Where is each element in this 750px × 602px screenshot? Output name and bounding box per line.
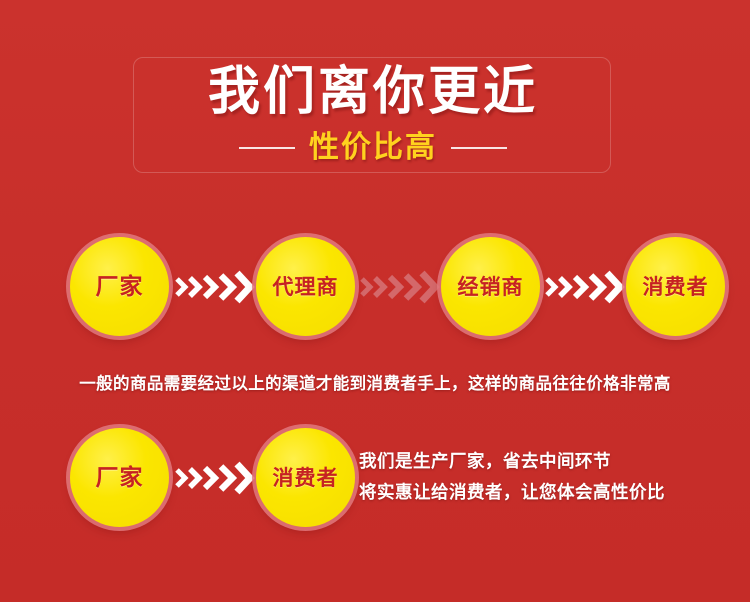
middle-note-text: 一般的商品需要经过以上的渠道才能到消费者手上，这样的商品往往价格非常高 bbox=[0, 372, 750, 396]
flow-node-label: 经销商 bbox=[458, 273, 524, 301]
flow-node-label: 代理商 bbox=[273, 273, 339, 301]
flow-node-consumer-direct: 消费者 bbox=[256, 428, 355, 527]
header-frame: 我们离你更近 性价比高 bbox=[133, 57, 611, 173]
right-note-line-1: 我们是生产厂家，省去中间环节 bbox=[359, 447, 665, 478]
flow-node-label: 厂家 bbox=[96, 464, 144, 492]
rule-left-divider bbox=[239, 147, 295, 149]
chevron-arrow-icon-faded bbox=[355, 267, 441, 307]
flow-node-factory-direct: 厂家 bbox=[70, 428, 169, 527]
flow-node-label: 消费者 bbox=[273, 464, 339, 492]
right-note: 我们是生产厂家，省去中间环节 将实惠让给消费者，让您体会高性价比 bbox=[359, 447, 665, 509]
promo-poster: 我们离你更近 性价比高 厂家 代理商 bbox=[0, 0, 750, 602]
flow-node-dealer: 经销商 bbox=[441, 237, 540, 336]
right-note-line-2: 将实惠让给消费者，让您体会高性价比 bbox=[359, 478, 665, 509]
flow-node-label: 消费者 bbox=[643, 273, 709, 301]
chevron-arrow-icon bbox=[169, 267, 256, 307]
flow-node-consumer: 消费者 bbox=[626, 237, 725, 336]
flow-node-factory: 厂家 bbox=[70, 237, 169, 336]
subtitle-row: 性价比高 bbox=[134, 126, 612, 170]
flow-chain-long: 厂家 代理商 经销商 bbox=[70, 237, 725, 336]
flow-node-label: 厂家 bbox=[96, 273, 144, 301]
page-title: 我们离你更近 bbox=[134, 60, 612, 124]
header-subtitle: 性价比高 bbox=[309, 130, 437, 166]
flow-chain-short: 厂家 消费者 bbox=[70, 428, 355, 527]
chevron-arrow-icon bbox=[540, 267, 626, 307]
chevron-arrow-icon bbox=[169, 458, 256, 498]
flow-node-agent: 代理商 bbox=[256, 237, 355, 336]
rule-right-divider bbox=[451, 147, 507, 149]
